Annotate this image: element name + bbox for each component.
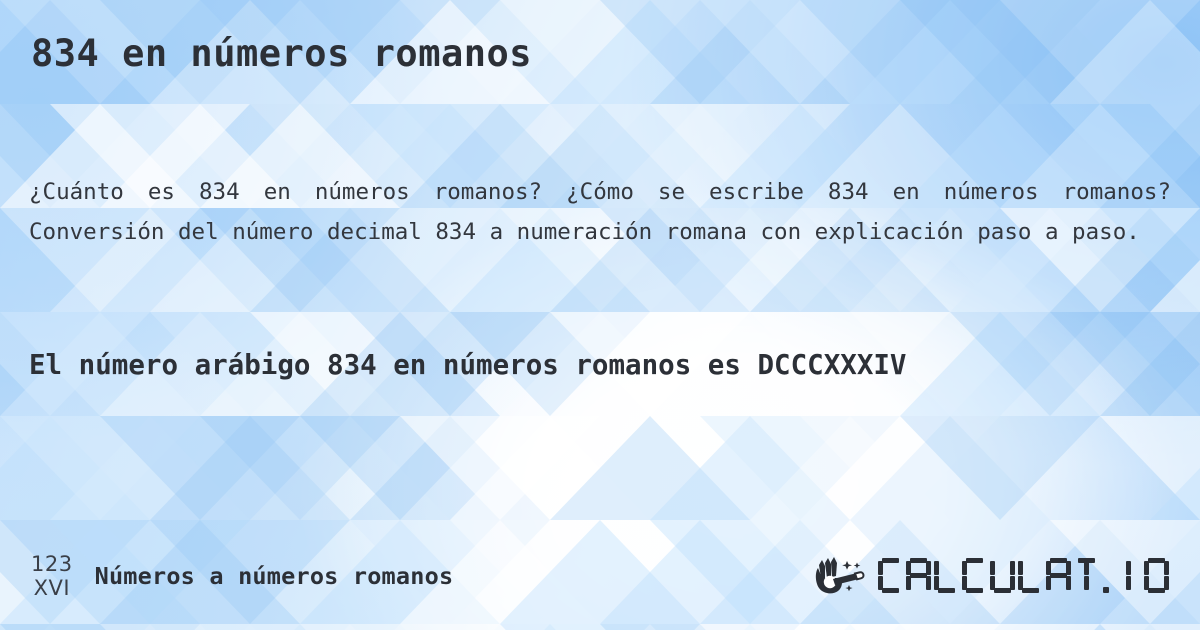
content-area: 834 en números romanos ¿Cuánto es 834 en… bbox=[0, 0, 1200, 630]
logo-char-a bbox=[906, 558, 931, 594]
logo-char-period bbox=[1102, 558, 1113, 594]
logo-char-a2 bbox=[1046, 558, 1071, 594]
page-root: 834 en números romanos ¿Cuánto es 834 en… bbox=[0, 0, 1200, 630]
logo-char-c2 bbox=[962, 558, 987, 594]
logo-char-c bbox=[878, 558, 903, 594]
hand-magic-wand-icon bbox=[813, 556, 871, 596]
logo-char-o bbox=[1144, 558, 1169, 594]
footer-brand[interactable]: 123 XVI Números a números romanos bbox=[31, 554, 453, 599]
footer-label: Números a números romanos bbox=[95, 562, 454, 590]
logo-denominator: XVI bbox=[34, 578, 70, 599]
logo-char-l bbox=[934, 558, 959, 594]
conversion-result-heading: El número arábigo 834 en números romanos… bbox=[29, 343, 1109, 388]
numbers-to-roman-logo-icon: 123 XVI bbox=[31, 554, 73, 599]
site-logo[interactable] bbox=[813, 556, 1169, 596]
logo-char-l2 bbox=[1018, 558, 1043, 594]
page-title: 834 en números romanos bbox=[31, 32, 532, 75]
footer-bar: 123 XVI Números a números romanos bbox=[0, 534, 1200, 630]
logo-char-u bbox=[990, 558, 1015, 594]
logo-char-i bbox=[1116, 558, 1141, 594]
site-logo-wordmark bbox=[878, 558, 1169, 594]
intro-paragraph: ¿Cuánto es 834 en números romanos? ¿Cómo… bbox=[29, 172, 1171, 252]
logo-numerator: 123 bbox=[31, 554, 73, 575]
logo-char-t bbox=[1074, 558, 1099, 594]
